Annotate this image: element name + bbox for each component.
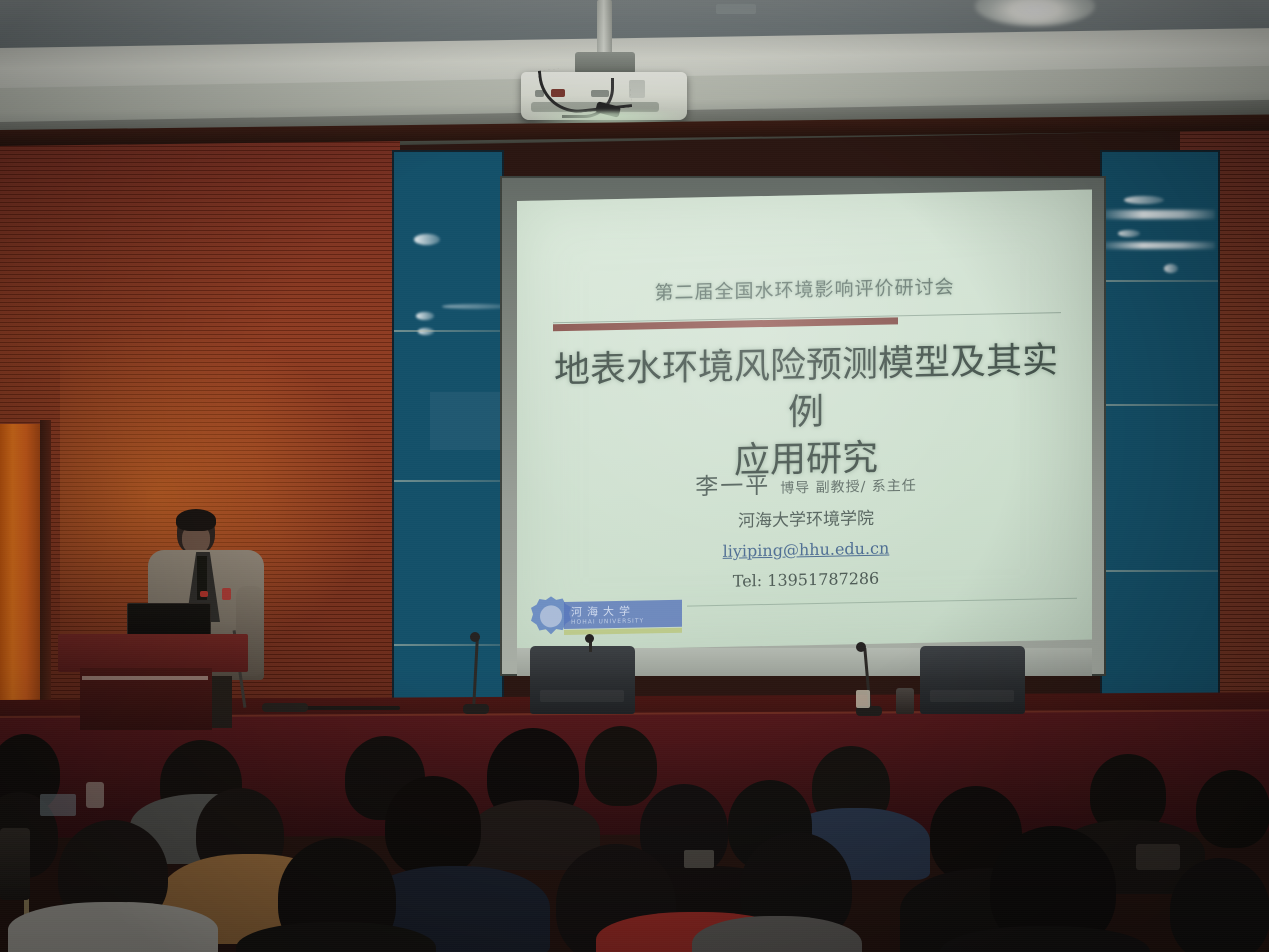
stage-cable xyxy=(300,706,400,710)
floor-monitor-speaker-right xyxy=(920,646,1025,714)
projected-slide: 第二届全国水环境影响评价研讨会 地表水环境风险预测模型及其实例 应用研究 李一平… xyxy=(517,189,1092,651)
logo-underline xyxy=(564,628,682,635)
audience-head xyxy=(1170,858,1269,952)
panel-seam xyxy=(1102,404,1218,406)
floor-monitor-speaker-left xyxy=(530,646,635,714)
panel-reflection xyxy=(416,312,434,320)
audience-head xyxy=(1196,770,1269,848)
audience-item xyxy=(1136,844,1180,870)
door-frame xyxy=(40,420,51,730)
teal-wall-panel-right xyxy=(1100,150,1220,722)
author-organization: 河海大学环境学院 xyxy=(541,500,1071,536)
microphone-head-icon xyxy=(585,634,594,643)
audience-head xyxy=(385,776,481,876)
panel-reflection xyxy=(1104,242,1215,249)
university-logo: 河海大学 HOHAI UNIVERSITY xyxy=(531,594,683,639)
laptop-indicator-light xyxy=(200,591,208,597)
projector-mount-pole xyxy=(597,0,612,58)
ceiling-light xyxy=(975,0,1095,26)
panel-seam xyxy=(394,330,502,332)
panel-reflection xyxy=(1164,264,1178,273)
author-telephone: Tel: 13951787286 xyxy=(541,565,1071,595)
teal-wall-panel-left xyxy=(392,150,504,722)
panel-reflection xyxy=(1124,196,1164,204)
projection-screen: 第二届全国水环境影响评价研讨会 地表水环境风险预测模型及其实例 应用研究 李一平… xyxy=(500,176,1106,676)
presenter-badge xyxy=(222,588,231,600)
panel-reflection xyxy=(1118,230,1140,237)
microphone-head-icon xyxy=(470,632,480,642)
microphone-head-icon xyxy=(856,642,866,652)
panel-reflection xyxy=(1104,210,1215,219)
seated-audience xyxy=(0,726,1269,952)
podium-trim xyxy=(82,676,208,680)
panel-seam xyxy=(1102,280,1218,282)
panel-seam xyxy=(394,480,502,482)
podium-microphone-base xyxy=(262,703,308,712)
panel-seam xyxy=(394,644,502,646)
slide-header-text: 第二届全国水环境影响评价研讨会 xyxy=(547,270,1062,307)
orange-door-panel[interactable] xyxy=(0,424,42,730)
author-role: 博导 副教授/ 系主任 xyxy=(780,478,917,497)
slide-title-line-1: 地表水环境风险预测模型及其实例 xyxy=(541,338,1071,442)
conference-hall-photo: 第二届全国水环境影响评价研讨会 地表水环境风险预测模型及其实例 应用研究 李一平… xyxy=(0,0,1269,952)
thermos-flask xyxy=(896,688,914,714)
audience-thermos xyxy=(0,828,30,900)
panel-reflection xyxy=(414,234,440,245)
author-name: 李一平 xyxy=(695,473,770,501)
presenter-hair xyxy=(176,509,216,531)
podium-top xyxy=(58,634,248,672)
audience-head xyxy=(585,726,657,806)
author-email-link[interactable]: liyiping@hhu.edu.cn xyxy=(541,535,1071,565)
projector-vent xyxy=(629,80,645,98)
panel-seam xyxy=(1102,570,1218,572)
audience-paper xyxy=(684,850,714,868)
paper-cup xyxy=(856,690,870,708)
microphone-base xyxy=(463,704,489,714)
audience-laptop-screen xyxy=(40,794,76,816)
audience-hoodie-grey xyxy=(8,902,218,952)
audience-water-bottle xyxy=(86,782,104,808)
panel-reflection xyxy=(430,392,500,450)
ceiling-vent xyxy=(716,4,756,14)
slide-bottom-rule xyxy=(687,598,1077,607)
